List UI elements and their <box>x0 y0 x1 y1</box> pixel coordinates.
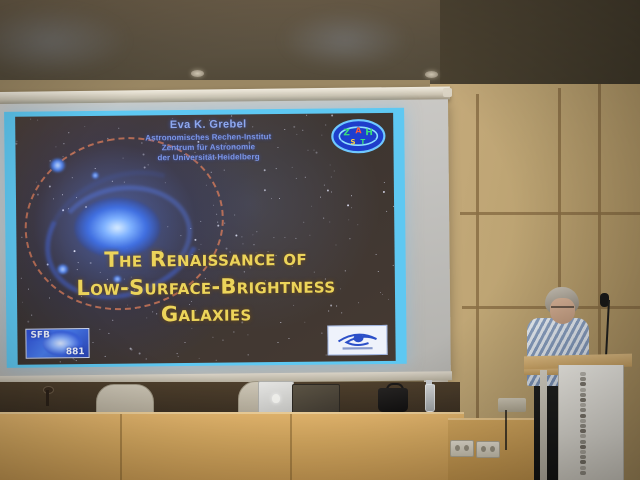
svg-text:T: T <box>360 138 365 146</box>
star <box>306 115 307 116</box>
star <box>247 334 248 335</box>
lectern-leg <box>540 370 547 480</box>
star <box>350 238 351 239</box>
power-outlet-1 <box>450 440 474 457</box>
star <box>21 237 22 238</box>
star <box>326 124 327 125</box>
lectern-dot <box>580 414 586 418</box>
star <box>327 190 329 192</box>
star <box>351 195 352 196</box>
lectern-dot <box>580 398 586 402</box>
star <box>393 206 394 207</box>
lectern-dot <box>580 455 586 459</box>
star <box>68 132 69 133</box>
star <box>178 356 179 357</box>
star <box>36 182 37 183</box>
lectern-front-panel <box>558 365 624 480</box>
star <box>145 358 146 359</box>
star <box>320 197 321 198</box>
star <box>100 329 101 330</box>
star <box>234 215 235 216</box>
star <box>109 333 110 334</box>
star <box>305 177 306 178</box>
svg-text:Z: Z <box>343 128 350 138</box>
star <box>357 224 358 225</box>
screen-roller-knob <box>443 88 452 97</box>
sfb-881-logo: SFB 881 <box>25 328 89 359</box>
star <box>311 205 312 206</box>
desk-seam-2 <box>290 414 292 480</box>
slide-header: Eva K. Grebel Astronomisches Rechen-Inst… <box>93 118 323 164</box>
sfb-label: SFB <box>30 330 50 340</box>
title-line-1: The Renaissance of <box>17 246 395 274</box>
star <box>295 237 296 238</box>
star <box>264 190 266 192</box>
star <box>243 243 244 244</box>
star <box>184 342 185 343</box>
blue-blob-2 <box>92 172 99 179</box>
title-line-2: Low-Surface-Brightness <box>17 274 395 302</box>
star <box>92 342 93 343</box>
star <box>63 143 64 144</box>
lectern-dot <box>580 440 586 444</box>
desk-microphone-stem <box>46 390 49 406</box>
star <box>231 115 232 116</box>
star <box>331 176 332 177</box>
star <box>198 358 199 359</box>
star <box>76 360 77 361</box>
lectern-perforation <box>578 372 590 476</box>
lectern-dot <box>580 372 586 376</box>
star <box>276 168 277 169</box>
star <box>254 244 255 245</box>
lectern-dot <box>580 377 586 381</box>
svg-text:A: A <box>355 126 362 135</box>
star <box>278 342 279 343</box>
star <box>331 114 333 116</box>
lectern-dot <box>580 466 586 470</box>
lectern-dot <box>580 434 586 438</box>
star <box>271 198 272 199</box>
star <box>263 169 265 171</box>
wall-cable <box>505 410 507 450</box>
star <box>347 204 349 206</box>
star <box>241 236 242 237</box>
projected-slide: Eva K. Grebel Astronomisches Rechen-Inst… <box>15 113 396 365</box>
star <box>139 352 141 354</box>
zah-logo-icon: Z A H S T <box>330 117 386 156</box>
apple-logo-icon <box>272 394 280 403</box>
star <box>310 235 311 236</box>
lectern-dot <box>580 403 586 407</box>
star <box>349 219 350 220</box>
star <box>334 170 335 171</box>
star <box>55 147 56 148</box>
lectern-dot <box>580 471 586 475</box>
star <box>384 181 385 182</box>
spiral-swoosh-logo-icon <box>327 325 387 356</box>
star <box>292 167 293 168</box>
star <box>257 231 258 232</box>
star <box>330 164 331 165</box>
star <box>383 190 385 192</box>
star <box>84 126 85 127</box>
star <box>235 235 237 237</box>
star <box>234 332 235 333</box>
star <box>253 234 254 235</box>
sfb-number: 881 <box>66 347 85 357</box>
star <box>211 172 212 173</box>
black-bag <box>378 388 408 412</box>
power-outlet-2 <box>476 441 500 458</box>
star <box>289 338 290 339</box>
lectern-dot <box>580 393 586 397</box>
laptop-lid <box>258 381 294 416</box>
glasses-icon <box>551 306 574 313</box>
lectern-dot <box>580 424 586 428</box>
wall-junction-box <box>498 398 526 412</box>
spotlight-icon-1 <box>191 70 204 77</box>
star <box>273 237 274 238</box>
star <box>296 178 297 179</box>
star <box>224 169 225 170</box>
lectern-dot <box>580 429 586 433</box>
star <box>321 333 322 334</box>
star <box>104 355 105 356</box>
star <box>325 355 326 356</box>
star <box>38 119 39 120</box>
projected-slide-border: Eva K. Grebel Astronomisches Rechen-Inst… <box>4 108 407 368</box>
lectern-dot <box>580 408 586 412</box>
star <box>191 328 192 329</box>
water-bottle <box>425 384 435 412</box>
lecture-hall-photo: Eva K. Grebel Astronomisches Rechen-Inst… <box>0 0 640 480</box>
star <box>304 222 305 223</box>
ceiling-glow-right <box>280 10 410 70</box>
svg-text:S: S <box>350 138 355 146</box>
star <box>222 340 223 341</box>
slide-title: The Renaissance of Low-Surface-Brightnes… <box>17 246 396 329</box>
lectern-dot <box>580 382 586 386</box>
star <box>351 207 352 208</box>
lectern-dot <box>580 388 586 392</box>
star <box>30 119 31 120</box>
projection-screen: Eva K. Grebel Astronomisches Rechen-Inst… <box>0 99 451 382</box>
star <box>323 218 324 219</box>
star <box>331 192 332 193</box>
svg-text:H: H <box>365 128 373 138</box>
star <box>177 353 178 354</box>
spotlight-icon-2 <box>425 71 438 78</box>
star <box>324 184 325 185</box>
star <box>329 221 330 222</box>
star <box>285 237 286 238</box>
panel-seam-h1 <box>460 212 640 215</box>
lectern-dot <box>580 419 586 423</box>
star <box>386 211 387 212</box>
star <box>279 199 280 200</box>
desk-seam-1 <box>120 414 122 480</box>
star <box>212 337 213 338</box>
lectern-dot <box>580 460 586 464</box>
lectern-dot <box>580 450 586 454</box>
star <box>247 354 248 355</box>
desk-front-panel <box>0 412 464 480</box>
blue-blob-1 <box>50 158 66 172</box>
star <box>60 362 61 363</box>
title-line-3: Galaxies <box>17 301 395 329</box>
star <box>224 222 225 223</box>
star <box>216 360 217 361</box>
star <box>16 142 18 144</box>
lectern-dot <box>580 445 586 449</box>
